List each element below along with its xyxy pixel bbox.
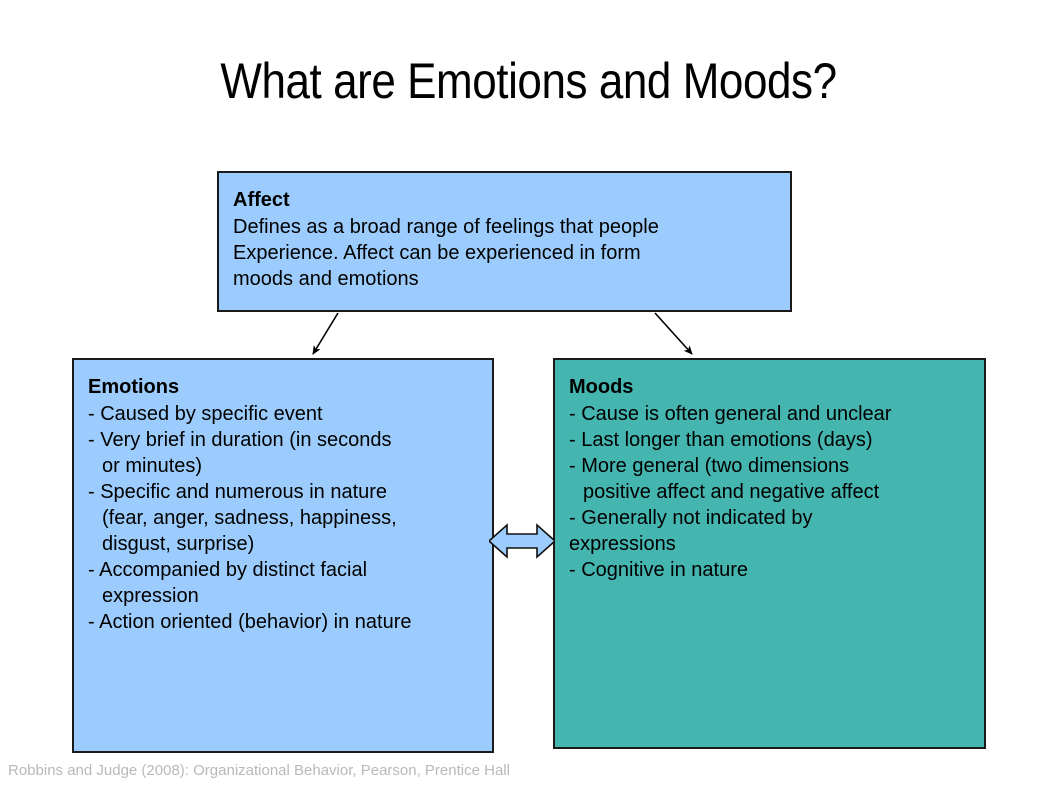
moods-box: Moods - Cause is often general and uncle… (553, 358, 986, 749)
emotions-line-1: - Caused by specific event (88, 401, 492, 427)
moods-line-3: - More general (two dimensions (569, 453, 984, 479)
emotions-line-4: - Specific and numerous in nature (88, 479, 492, 505)
moods-line-2: - Last longer than emotions (days) (569, 427, 984, 453)
moods-line-5: - Generally not indicated by (569, 505, 984, 531)
source-citation: Robbins and Judge (2008): Organizational… (8, 761, 510, 781)
emotions-box: Emotions - Caused by specific event - Ve… (72, 358, 494, 753)
moods-heading: Moods (569, 374, 984, 400)
moods-line-7: - Cognitive in nature (569, 557, 984, 583)
double-headed-arrow-icon (489, 519, 555, 563)
emotions-heading: Emotions (88, 374, 492, 400)
page-title: What are Emotions and Moods? (63, 52, 993, 110)
connector-affect-to-moods (655, 313, 692, 354)
affect-line-1: Defines as a broad range of feelings tha… (233, 214, 790, 240)
affect-heading: Affect (233, 187, 790, 213)
emotions-line-5: (fear, anger, sadness, happiness, (88, 505, 492, 531)
emotions-line-6: disgust, surprise) (88, 531, 492, 557)
emotions-line-9: - Action oriented (behavior) in nature (88, 609, 492, 635)
emotions-line-2: - Very brief in duration (in seconds (88, 427, 492, 453)
moods-line-4: positive affect and negative affect (569, 479, 984, 505)
affect-line-2: Experience. Affect can be experienced in… (233, 240, 790, 266)
emotions-line-7: - Accompanied by distinct facial (88, 557, 492, 583)
emotions-line-3: or minutes) (88, 453, 492, 479)
moods-line-6: expressions (569, 531, 984, 557)
emotions-line-8: expression (88, 583, 492, 609)
connector-affect-to-emotions (313, 313, 338, 354)
affect-box: Affect Defines as a broad range of feeli… (217, 171, 792, 312)
moods-line-1: - Cause is often general and unclear (569, 401, 984, 427)
affect-line-3: moods and emotions (233, 266, 790, 292)
